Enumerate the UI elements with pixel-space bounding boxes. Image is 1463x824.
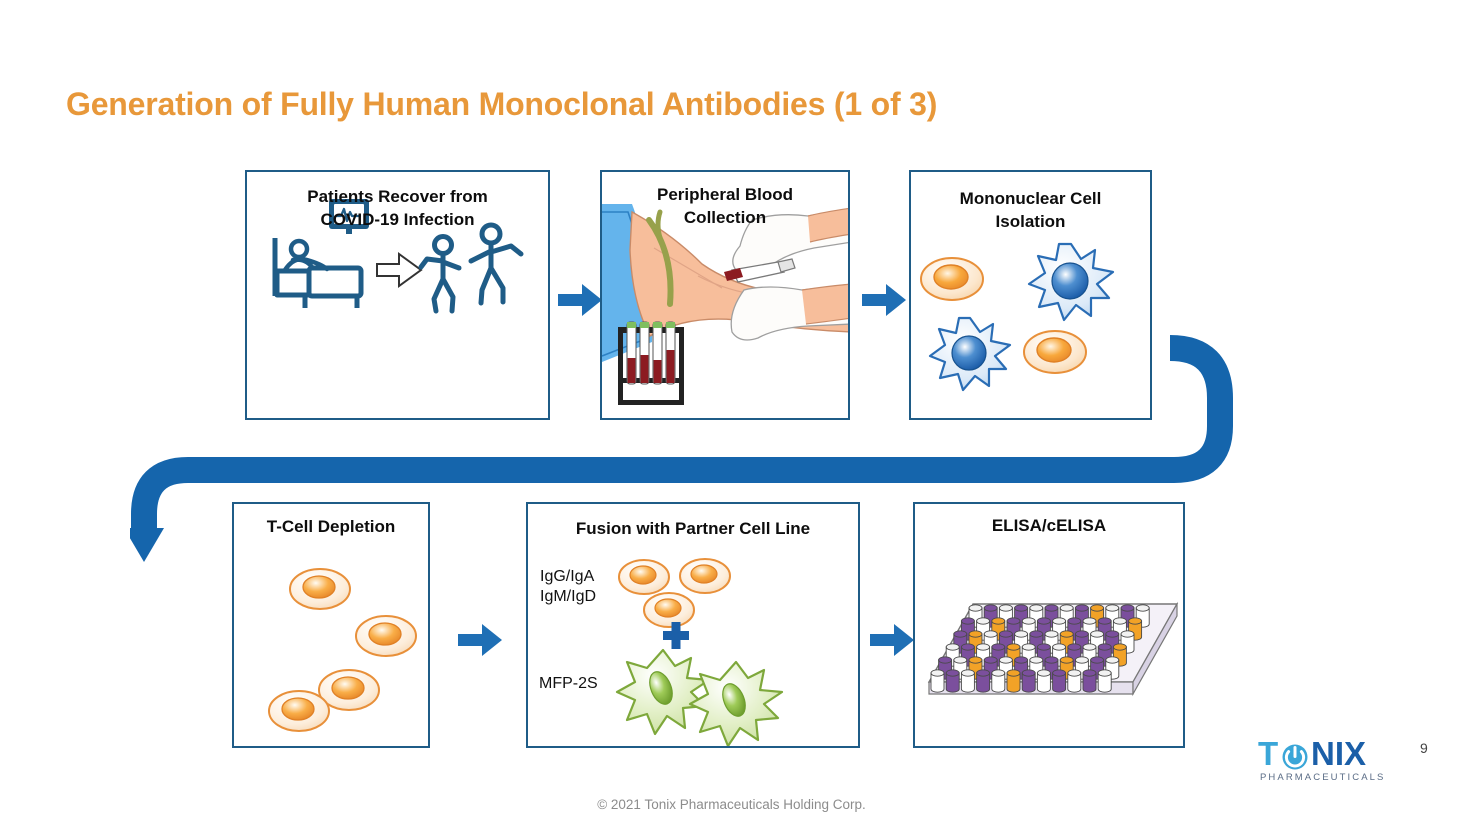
partner-cell-line-label: MFP-2S	[539, 674, 598, 694]
antibody-isotypes-label: IgG/IgA IgM/IgD	[540, 567, 596, 607]
stage-label-patients-recover: Patients Recover from COVID-19 Infection	[247, 186, 548, 231]
stage-box-fusion-partner-cell-line[interactable]: Fusion with Partner Cell Line IgG/IgA Ig…	[526, 502, 860, 748]
arrow-stage1-to-stage2	[558, 283, 603, 317]
patient-figure-icon	[285, 241, 327, 270]
orange-cell-icon	[619, 560, 669, 594]
slide-number: 9	[1420, 740, 1428, 756]
arrow-stage4-to-stage5	[458, 623, 503, 657]
plate-well	[992, 670, 1005, 692]
power-symbol-icon	[1283, 745, 1308, 770]
orange-cell-icon	[269, 691, 329, 731]
plate-well	[1007, 670, 1020, 692]
blue-spiky-cell-icon	[1029, 244, 1113, 320]
stage-box-t-cell-depletion[interactable]: T-Cell Depletion	[232, 502, 430, 748]
svg-text:T: T	[1258, 738, 1278, 772]
plate-well	[1068, 670, 1081, 692]
plate-well	[1083, 670, 1096, 692]
stage-box-elisa[interactable]: ELISA/cELISA	[913, 502, 1185, 748]
dancing-people-icon	[421, 225, 521, 311]
copyright-footer: © 2021 Tonix Pharmaceuticals Holding Cor…	[0, 797, 1463, 812]
stage-label-t-cell-depletion: T-Cell Depletion	[234, 516, 428, 539]
orange-cell-icon	[290, 569, 350, 609]
hospital-bed-icon	[275, 238, 361, 308]
page-title: Generation of Fully Human Monoclonal Ant…	[66, 86, 937, 123]
tonix-wordmark: T NIX PHARMACEUTICALS	[1258, 738, 1398, 786]
plate-well	[1098, 670, 1111, 692]
arrow-stage5-to-stage6	[870, 623, 915, 657]
stage-label-blood-collection: Peripheral Blood Collection	[602, 184, 848, 229]
plate-well	[961, 670, 974, 692]
green-spiky-cell-icon	[690, 662, 782, 746]
slide-canvas: Generation of Fully Human Monoclonal Ant…	[0, 0, 1463, 824]
t-cell-depletion-illustration	[234, 504, 430, 748]
plate-well	[946, 670, 959, 692]
stage-label-elisa: ELISA/cELISA	[915, 515, 1183, 538]
orange-cell-icon	[921, 258, 983, 300]
plate-well	[977, 670, 990, 692]
tonix-logo[interactable]: T NIX PHARMACEUTICALS	[1258, 738, 1398, 791]
stage-label-mononuclear-isolation: Mononuclear Cell Isolation	[911, 188, 1150, 233]
transition-arrow-icon	[377, 254, 421, 286]
green-spiky-cell-icon	[617, 650, 709, 734]
plate-well	[1022, 670, 1035, 692]
plate-well	[931, 670, 944, 692]
orange-cell-icon	[680, 559, 730, 593]
microtiter-plate-icon	[915, 504, 1185, 748]
orange-cell-icon	[356, 616, 416, 656]
plate-well	[1037, 670, 1050, 692]
stage-label-fusion-partner-cell-line: Fusion with Partner Cell Line	[528, 518, 858, 541]
logo-tagline: PHARMACEUTICALS	[1260, 772, 1385, 783]
arrow-stage2-to-stage3	[862, 283, 907, 317]
svg-text:NIX: NIX	[1311, 738, 1366, 772]
plate-well	[1053, 670, 1066, 692]
orange-cell-icon	[644, 593, 694, 627]
